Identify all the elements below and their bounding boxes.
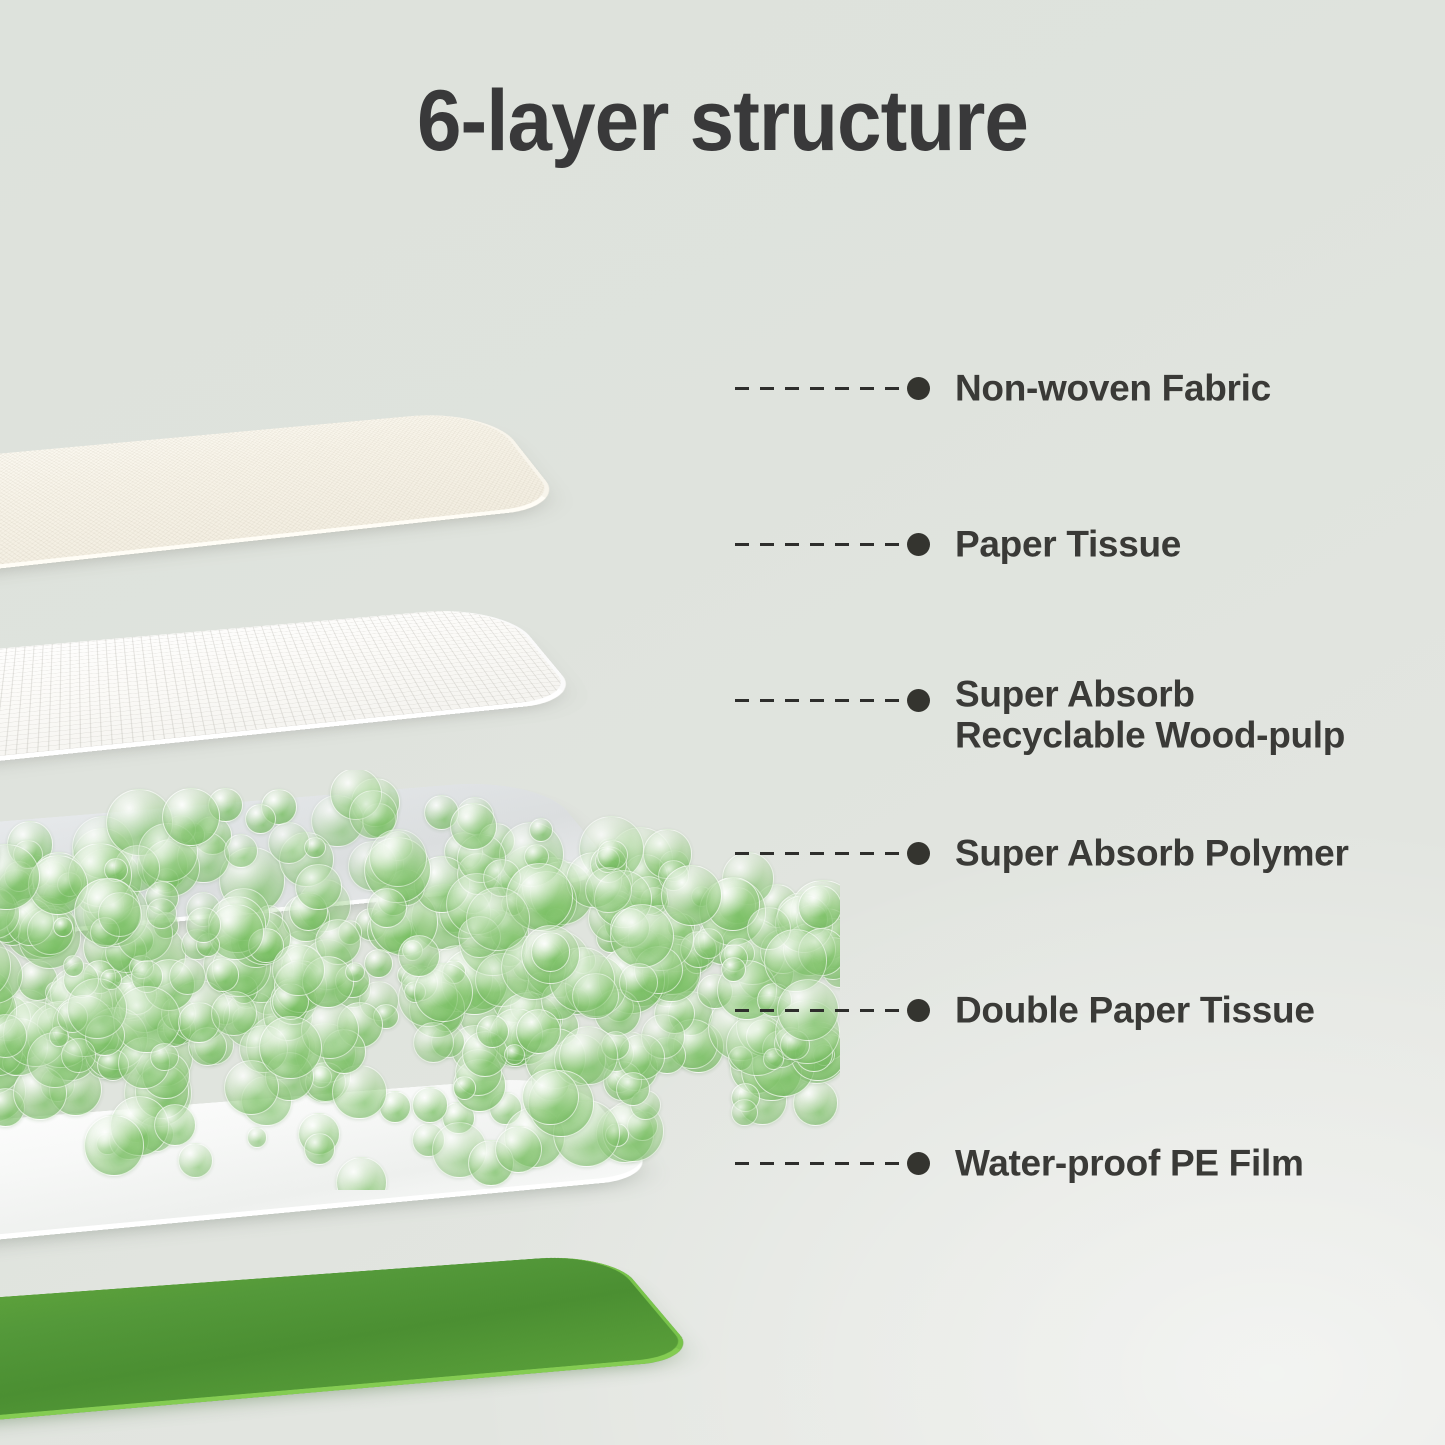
layer-sheet-pe-film [0,1060,760,1410]
callout-label-paper-tissue: Paper Tissue [955,523,1181,564]
callout-label-double-paper-tissue: Double Paper Tissue [955,989,1315,1030]
callout-dot-icon [907,842,930,865]
polymer-bead [98,892,143,937]
polymer-bead [466,887,530,951]
callout-label-line-1: Super Absorb [955,673,1345,714]
leader-line-icon [735,699,910,702]
callout-label-super-absorb-polymer: Super Absorb Polymer [955,832,1349,873]
callout-dot-icon [907,533,930,556]
leader-line-icon [735,543,910,546]
polymer-bead [162,788,220,846]
callout-label-line-2: Recyclable Wood-pulp [955,715,1345,756]
pe-film-edge [0,1253,700,1445]
polymer-bead [529,818,553,842]
polymer-bead [63,955,84,976]
polymer-bead [572,973,619,1020]
polymer-bead [295,864,341,910]
polymer-bead [450,803,497,850]
polymer-bead [369,829,427,887]
callout-dot-icon [907,1152,930,1175]
polymer-bead [304,837,325,858]
polymer-bead [211,991,256,1036]
polymer-bead [597,840,627,870]
leader-line-icon [735,1162,910,1165]
polymer-bead [272,944,324,996]
polymer-bead [364,949,393,978]
polymer-bead [661,865,722,926]
polymer-bead [345,962,365,982]
layer-structure-infographic: 6-layer structure Non-woven Fabric [0,0,1445,1445]
polymer-bead [585,867,631,913]
polymer-bead [206,958,240,992]
leader-line-icon [735,387,910,390]
polymer-bead [413,1022,454,1063]
polymer-bead [798,885,840,929]
polymer-bead [67,978,127,1038]
callout-label-non-woven-fabric: Non-woven Fabric [955,367,1271,408]
callout-dot-icon [907,999,930,1022]
callout-label-wood-pulp: Super Absorb Recyclable Wood-pulp [955,673,1345,756]
callout-dot-icon [907,377,930,400]
leader-line-icon [735,1009,910,1012]
polymer-bead [268,822,310,864]
leader-line-icon [735,852,910,855]
polymer-bead [245,804,275,834]
polymer-bead [610,904,674,968]
polymer-bead [619,963,658,1002]
callout-label-pe-film: Water-proof PE Film [955,1142,1304,1183]
polymer-bead [693,928,724,959]
polymer-bead [476,1015,509,1048]
polymer-bead [516,1009,561,1054]
polymer-bead [398,935,440,977]
polymer-bead [367,888,407,928]
callout-dot-icon [907,689,930,712]
polymer-bead [186,907,221,942]
polymer-bead [531,932,571,972]
polymer-bead [146,898,177,929]
